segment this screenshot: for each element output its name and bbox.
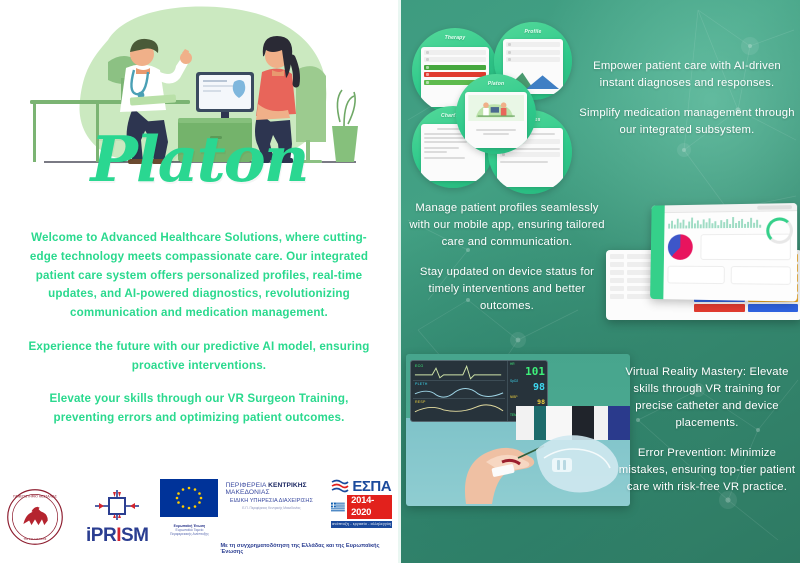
espa-slogan: ανάπτυξη - εργασία - αλληλεγγύη <box>331 521 392 528</box>
intro-paragraph-3: Elevate your skills through our VR Surge… <box>26 390 372 428</box>
svg-text:ΠΑΝΕΠΙΣΤΗΜΙΟ ΘΕΣΣΑΛΙΑΣ: ΠΑΝΕΠΙΣΤΗΜΙΟ ΘΕΣΣΑΛΙΑΣ <box>13 494 57 498</box>
left-intro-copy: Welcome to Advanced Healthcare Solutions… <box>0 229 398 428</box>
european-union-flag-icon <box>160 479 218 517</box>
iprism-wordmark: iPRISM <box>86 526 148 545</box>
svg-text:ΤΜΗΜΑ ΙΑΤΡΙΚΗΣ: ΤΜΗΜΑ ΙΑΤΡΙΚΗΣ <box>24 537 47 541</box>
right-copy-middle: Manage patient profiles seamlessly with … <box>404 200 610 315</box>
espa-years: 2014-2020 <box>347 495 392 519</box>
eu-flag-block: Ευρωπαϊκή Ένωση Ευρωπαϊκό Ταμείο Περιφερ… <box>160 479 218 537</box>
app-mockup-title: Profile <box>494 29 572 35</box>
metric-card <box>667 266 725 284</box>
app-text-line <box>424 151 447 153</box>
region-title: ΠΕΡΙΦΕΡΕΙΑ ΚΕΝΤΡΙΚΗΣ ΜΑΚΕΔΟΝΙΑΣ <box>225 482 317 496</box>
greek-flag-icon <box>331 502 345 512</box>
iprism-mark-icon <box>95 490 139 520</box>
app-text-line <box>500 161 548 163</box>
funding-logos-footer: ΠΑΝΕΠΙΣΤΗΜΙΟ ΘΕΣΣΑΛΙΑΣ ΤΜΗΜΑ ΙΑΤΡΙΚΗΣ <box>0 479 398 555</box>
app-text-line <box>483 133 508 135</box>
app-text-line <box>424 141 467 143</box>
intro-paragraph-2: Experience the future with our predictiv… <box>26 338 372 376</box>
brand-wordmark: Platon <box>0 128 398 191</box>
right-panel: Therapy Profile <box>398 0 800 563</box>
eu-flag-caption: Ευρωπαϊκή Ένωση Ευρωπαϊκό Ταμείο Περιφερ… <box>160 524 218 537</box>
mobile-app-mockup-cluster: Therapy Profile <box>412 18 572 198</box>
intro-paragraph-1: Welcome to Advanced Healthcare Solutions… <box>26 229 372 323</box>
eu-espa-logo-block: Ευρωπαϊκή Ένωση Ευρωπαϊκό Ταμείο Περιφερ… <box>160 479 392 556</box>
vr-training-screenshot: ECG PLETH RESP <box>406 354 630 506</box>
app-list-row <box>424 65 485 70</box>
titlebar-pill <box>757 205 792 210</box>
region-subtitle: ΕΙΔΙΚΗ ΥΠΗΡΕΣΙΑ ΔΙΑΧΕΙΡΙΣΗΣ <box>225 498 317 504</box>
right-mid-paragraph-1: Manage patient profiles seamlessly with … <box>404 200 610 251</box>
app-list-row <box>506 42 561 47</box>
status-cell <box>748 304 799 312</box>
right-copy-top: Empower patient care with AI-driven inst… <box>576 58 798 139</box>
right-top-paragraph-1: Empower patient care with AI-driven inst… <box>576 58 798 92</box>
app-text-line <box>424 157 465 159</box>
app-list-row <box>500 152 560 157</box>
espa-logo: ΕΣΠΑ 2014-2020 ανάπτ <box>331 479 392 528</box>
vr-hands-catheter-illustration <box>406 354 630 506</box>
app-list-row <box>506 50 561 55</box>
app-mockup-circle-platon[interactable]: Platon <box>456 74 536 154</box>
app-mockup-title: Therapy <box>412 35 498 41</box>
iprism-logo: iPRISM <box>86 490 148 545</box>
right-mid-paragraph-2: Stay updated on device status for timely… <box>404 264 610 315</box>
university-of-thessaly-seal-logo: ΠΑΝΕΠΙΣΤΗΜΙΟ ΘΕΣΣΑΛΙΑΣ ΤΜΗΜΑ ΙΑΤΡΙΚΗΣ <box>6 488 64 546</box>
poster-root: Platon Welcome to Advanced Healthcare So… <box>0 0 800 563</box>
left-panel: Platon Welcome to Advanced Healthcare So… <box>0 0 398 563</box>
hero-illustration: Platon <box>0 0 398 215</box>
app-mockup-title: Platon <box>456 81 536 87</box>
espa-wordmark: ΕΣΠΑ <box>352 479 391 494</box>
region-authority-text: ΠΕΡΙΦΕΡΕΙΑ ΚΕΝΤΡΙΚΗΣ ΜΑΚΕΔΟΝΙΑΣ ΕΙΔΙΚΗ Υ… <box>225 479 317 511</box>
cofunding-statement: Με τη συγχρηματοδότηση της Ελλάδας και τ… <box>220 543 392 555</box>
right-bottom-paragraph-2: Error Prevention: Minimize mistakes, ens… <box>618 445 796 496</box>
donut-chart <box>668 234 693 260</box>
panel-divider <box>398 0 401 563</box>
app-list-row <box>424 72 485 77</box>
app-list-row <box>424 57 485 62</box>
right-top-paragraph-2: Simplify medication management through o… <box>576 105 798 139</box>
progress-gauge <box>766 217 793 244</box>
region-program: Ε.Π. Περιφέρειας Κεντρικής Μακεδονίας <box>225 506 317 510</box>
app-list-row <box>506 57 561 62</box>
app-screen <box>465 92 527 148</box>
right-bottom-paragraph-1: Virtual Reality Mastery: Elevate skills … <box>618 364 796 432</box>
analytics-dashboard-window[interactable] <box>650 203 797 302</box>
metric-card <box>731 266 791 285</box>
app-list-row <box>424 50 485 55</box>
app-text-line <box>476 129 515 131</box>
espa-waves-icon <box>331 479 349 493</box>
status-cell <box>694 304 745 312</box>
right-copy-bottom: Virtual Reality Mastery: Elevate skills … <box>618 364 796 496</box>
app-text-line <box>424 147 459 149</box>
consultation-thumbnail-illustration <box>468 95 524 121</box>
